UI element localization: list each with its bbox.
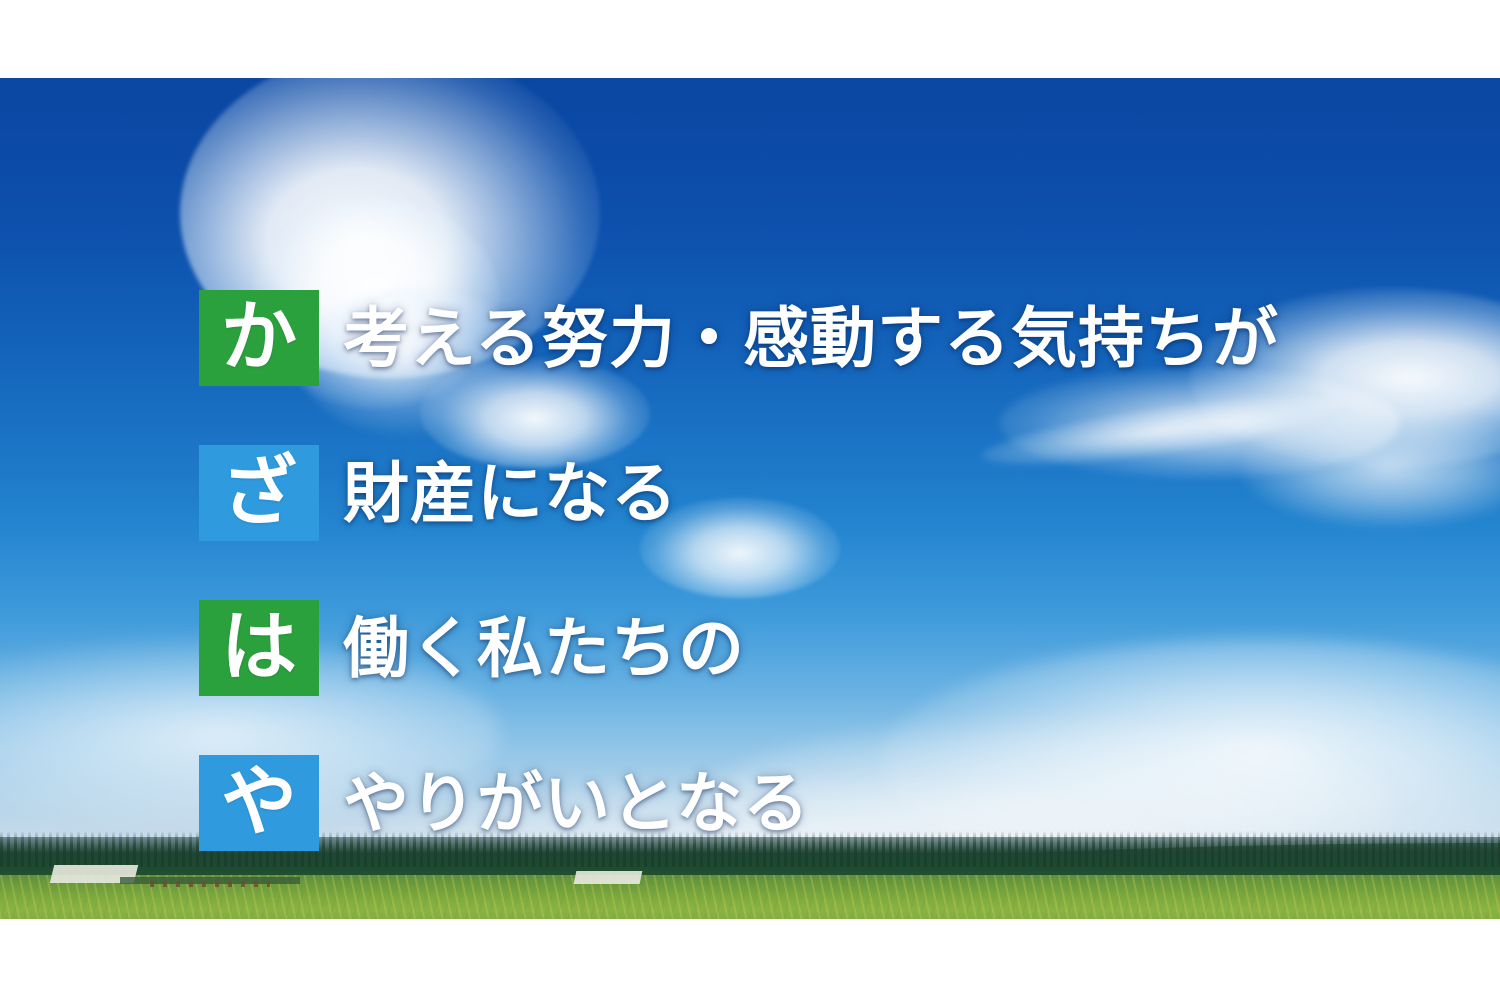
- slogan-block: か 考える努力・感動する気持ちが ざ 財産になる は 働く私たちの や やりがい…: [199, 290, 1399, 851]
- slogan-line: か 考える努力・感動する気持ちが: [199, 290, 1399, 386]
- farm-building: [574, 871, 643, 884]
- slogan-phrase-ya: やりがいとなる: [343, 770, 810, 836]
- livestock-specks: [150, 881, 270, 887]
- slogan-phrase-ha: 働く私たちの: [343, 615, 745, 681]
- background-photo: か 考える努力・感動する気持ちが ざ 財産になる は 働く私たちの や やりがい…: [0, 78, 1500, 919]
- slogan-initial-badge-ya: や: [199, 755, 319, 851]
- slogan-initial-badge-ka: か: [199, 290, 319, 386]
- slogan-phrase-ka: 考える努力・感動する気持ちが: [343, 305, 1279, 371]
- slogan-line: は 働く私たちの: [199, 600, 1399, 696]
- slogan-line: や やりがいとなる: [199, 755, 1399, 851]
- slogan-initial-badge-ha: は: [199, 600, 319, 696]
- slogan-initial-badge-za: ざ: [199, 445, 319, 541]
- slogan-phrase-za: 財産になる: [343, 460, 678, 526]
- slogan-line: ざ 財産になる: [199, 445, 1399, 541]
- slide-root: か 考える努力・感動する気持ちが ざ 財産になる は 働く私たちの や やりがい…: [0, 0, 1500, 1000]
